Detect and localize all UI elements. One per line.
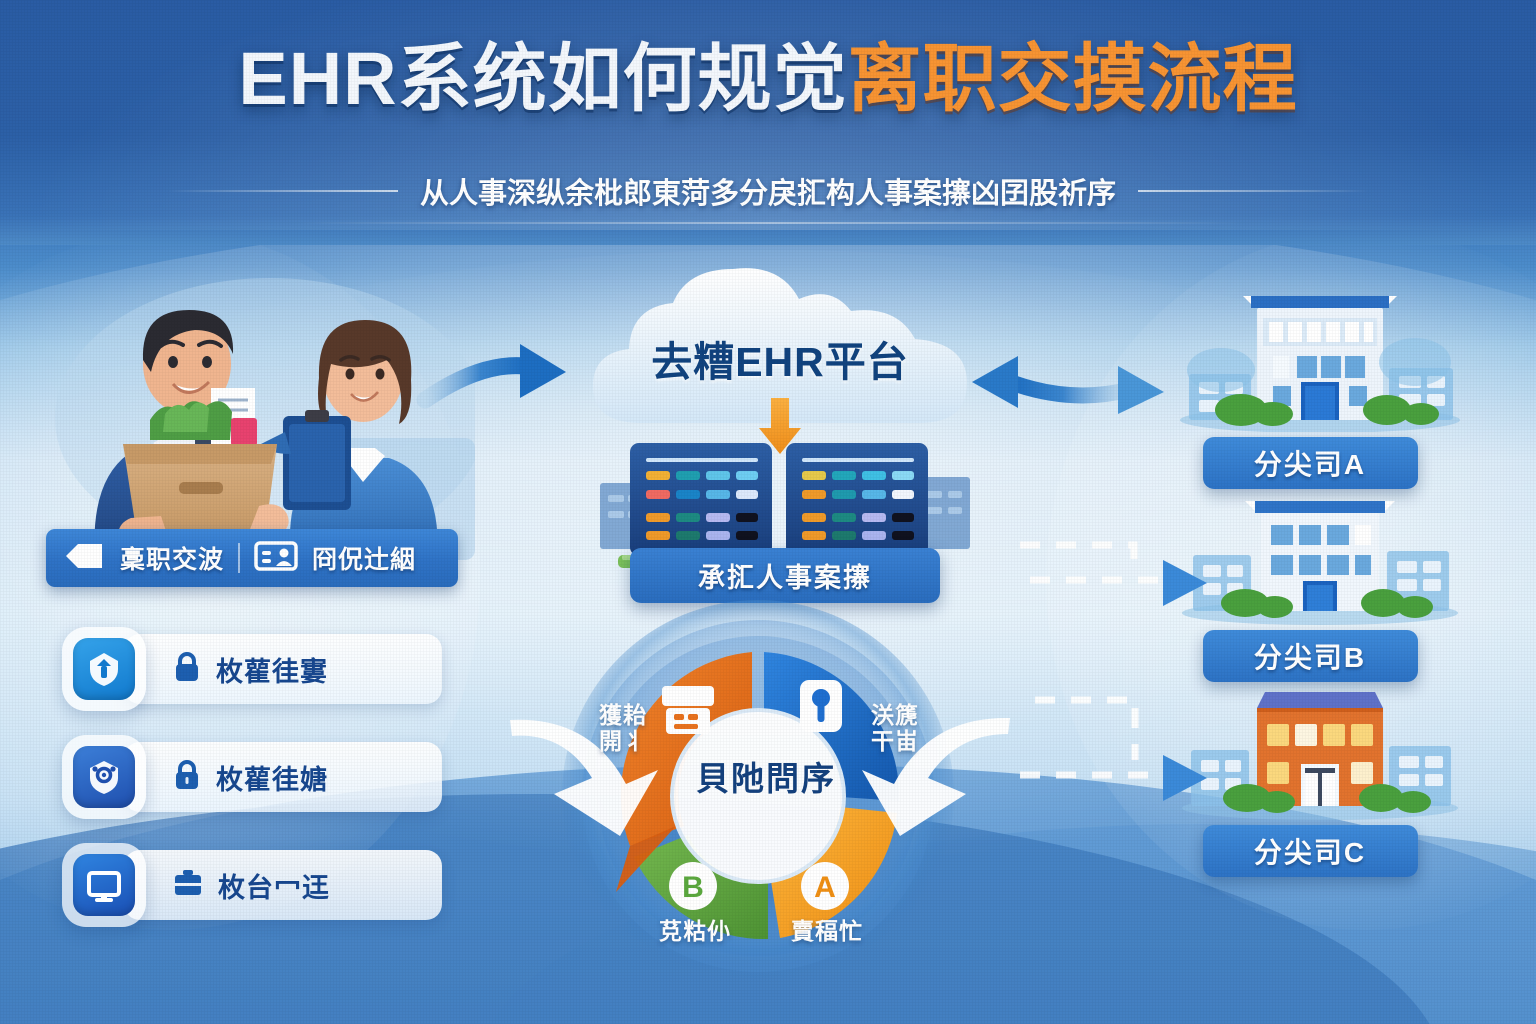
- banner-label-2: 冏㑆辻絪: [312, 540, 416, 576]
- office-building-orange-icon: [1175, 680, 1465, 820]
- branch-b[interactable]: 分尖司B: [1175, 485, 1445, 682]
- feature-item-1[interactable]: 枚雚徍寠: [62, 627, 442, 711]
- feature-item-2[interactable]: 枚雚徍㜍: [62, 735, 442, 819]
- office-building-medium-icon: [1175, 485, 1465, 625]
- feature-icon-frame-2: [62, 735, 146, 819]
- branch-a[interactable]: 分尖司A: [1175, 282, 1445, 489]
- svg-text:B: B: [682, 871, 704, 904]
- title-block: EHR系统如何规觉离职交摸流程: [0, 42, 1536, 116]
- handover-banner: 稾职交波 冏㑆辻絪: [46, 529, 458, 587]
- feature-pill-3: 枚台冖迋: [124, 850, 442, 920]
- feature-label-3: 枚台冖迋: [218, 866, 330, 905]
- lock-icon: [172, 758, 202, 797]
- left-arrow-icon: [64, 541, 106, 576]
- feature-label-1: 枚雚徍寠: [216, 650, 328, 689]
- banner-divider: [238, 543, 240, 573]
- lock-icon: [172, 650, 202, 689]
- cycle-segment-label-top-left: 獲耛 開丬: [568, 702, 678, 755]
- cycle-diagram: B A 獲耛 開丬 浂篪 干峀 莌䊀仦 賣稫忙 貝阤問序: [480, 600, 1040, 1000]
- cloud-label: 去糟EHR平台: [575, 328, 985, 388]
- title-plain-text: EHR系统如何规觉: [238, 37, 847, 120]
- upload-shield-icon: [73, 638, 135, 700]
- key-icon: [800, 680, 842, 732]
- feature-icon-frame-1: [62, 627, 146, 711]
- subtitle-rule-right: [1138, 190, 1368, 192]
- monitor-icon: [73, 854, 135, 916]
- subtitle-underline: [300, 222, 1240, 224]
- cycle-segment-label-bottom-right: 賣稫忙: [772, 918, 882, 944]
- briefcase-icon: [172, 868, 204, 903]
- subtitle-row: 从人事深纵余枇郎東菏多分戾㧟构人事案㩟凶囝股祈序: [0, 170, 1536, 212]
- branch-c[interactable]: 分尖司C: [1175, 680, 1445, 877]
- id-card-icon: [254, 540, 298, 577]
- branch-b-pill[interactable]: 分尖司B: [1203, 630, 1418, 682]
- branch-b-label: 分尖司B: [1254, 636, 1366, 676]
- office-building-large-icon: [1175, 282, 1465, 432]
- server-label-text: 承㧟人事案㩟: [698, 556, 872, 595]
- shield-gear-icon: [73, 746, 135, 808]
- subtitle-rule-left: [168, 190, 398, 192]
- feature-pill-1: 枚雚徍寠: [124, 634, 442, 704]
- branch-c-pill[interactable]: 分尖司C: [1203, 825, 1418, 877]
- branch-a-label: 分尖司A: [1254, 443, 1366, 483]
- cycle-segment-label-top-right: 浂篪 干峀: [840, 702, 950, 755]
- clipboard-icon: [283, 410, 351, 510]
- letter-a-icon: A: [801, 862, 849, 910]
- feature-item-3[interactable]: 枚台冖迋: [62, 843, 442, 927]
- feature-icon-frame-3: [62, 843, 146, 927]
- letter-b-icon: B: [669, 862, 717, 910]
- branch-a-pill[interactable]: 分尖司A: [1203, 437, 1418, 489]
- svg-text:A: A: [814, 871, 836, 904]
- feature-label-2: 枚雚徍㜍: [216, 758, 328, 797]
- page-subtitle: 从人事深纵余枇郎東菏多分戾㧟构人事案㩟凶囝股祈序: [420, 170, 1116, 212]
- title-accent-text: 离职交摸流程: [848, 37, 1298, 120]
- banner-label-1: 稾职交波: [120, 540, 224, 576]
- page-title: EHR系统如何规觉离职交摸流程: [0, 42, 1536, 116]
- employee-handover-illustration: [55, 268, 475, 558]
- infographic-canvas: EHR系统如何规觉离职交摸流程 从人事深纵余枇郎東菏多分戾㧟构人事案㩟凶囝股祈序: [0, 0, 1536, 1024]
- feature-pill-2: 枚雚徍㜍: [124, 742, 442, 812]
- cycle-segment-label-bottom-left: 莌䊀仦: [640, 918, 750, 944]
- branch-c-label: 分尖司C: [1254, 831, 1366, 871]
- server-label: 承㧟人事案㩟: [630, 548, 940, 603]
